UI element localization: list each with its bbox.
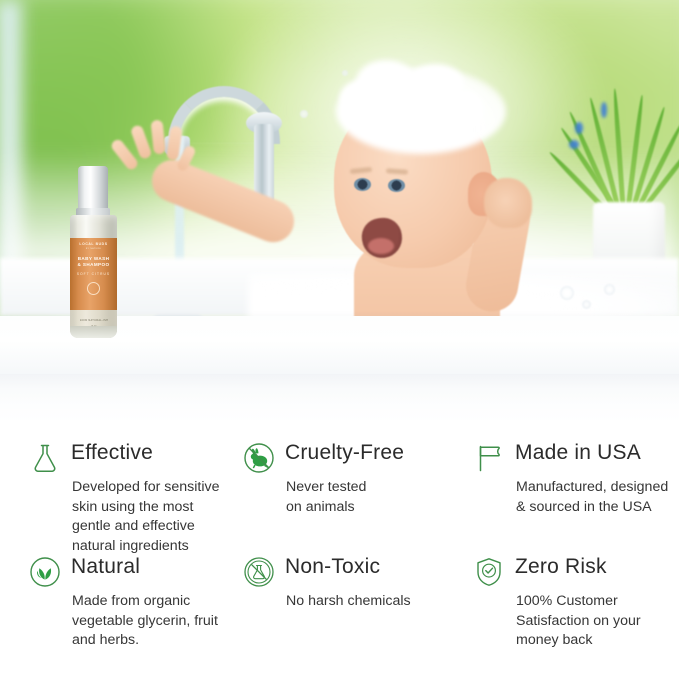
feature-title: Cruelty-Free (285, 440, 404, 466)
product-infographic: LOCAL BUDS BY NATURE BABY WASH & SHAMPOO… (0, 0, 679, 679)
feature-effective: Effective Developed for sensitive skin u… (0, 440, 232, 556)
baby-eye-right (388, 179, 405, 192)
feature-description: Manufactured, designed & sourced in the … (516, 478, 679, 517)
feature-title: Natural (71, 554, 140, 580)
baby-eye-left (354, 178, 371, 191)
bottle-pump-cap (78, 166, 108, 212)
feature-description: Made from organic vegetable glycerin, fr… (72, 592, 232, 651)
baby-left-hand (127, 126, 189, 198)
hero-photo: LOCAL BUDS BY NATURE BABY WASH & SHAMPOO… (0, 0, 679, 432)
features-row-2: Natural Made from organic vegetable glyc… (0, 554, 679, 651)
bottle-base (70, 326, 117, 338)
feature-natural: Natural Made from organic vegetable glyc… (0, 554, 232, 651)
bottle-brand: LOCAL BUDS (79, 243, 107, 246)
baby (300, 86, 570, 336)
photo-bottom-fade (0, 392, 679, 432)
features-row-1: Effective Developed for sensitive skin u… (0, 440, 679, 556)
feature-title: Non-Toxic (285, 554, 380, 580)
feature-description: 100% Customer Satisfaction on your money… (516, 592, 679, 651)
no-chemicals-icon (242, 555, 276, 589)
feature-description: Developed for sensitive skin using the m… (72, 478, 232, 556)
feature-description: No harsh chemicals (286, 592, 462, 612)
flag-icon (472, 441, 506, 475)
bottle-label: LOCAL BUDS BY NATURE BABY WASH & SHAMPOO… (70, 238, 117, 310)
feature-made-in-usa: Made in USA Manufactured, designed & sou… (462, 440, 679, 556)
bottle-scent: SOFT CITRUS (77, 272, 110, 276)
shield-check-icon (472, 555, 506, 589)
bottle-seal-icon (87, 282, 100, 295)
feature-non-toxic: Non-Toxic No harsh chemicals (232, 554, 462, 651)
bottle-bottom-text: 100% NATURAL-ISH (66, 319, 122, 322)
features-section: Effective Developed for sensitive skin u… (0, 432, 679, 679)
product-bottle: LOCAL BUDS BY NATURE BABY WASH & SHAMPOO… (66, 166, 122, 338)
leaf-icon (28, 555, 62, 589)
rabbit-no-icon (242, 441, 276, 475)
bottle-product-title-line2: & SHAMPOO (78, 262, 110, 268)
feature-title: Effective (71, 440, 153, 466)
flask-icon (28, 441, 62, 475)
feature-zero-risk: Zero Risk 100% Customer Satisfaction on … (462, 554, 679, 651)
feature-title: Made in USA (515, 440, 641, 466)
feature-title: Zero Risk (515, 554, 607, 580)
baby-right-hand (484, 178, 532, 228)
feature-description: Never tested on animals (286, 478, 462, 517)
bottle-brand-sub: BY NATURE (86, 248, 101, 250)
feature-cruelty-free: Cruelty-Free Never tested on animals (232, 440, 462, 556)
